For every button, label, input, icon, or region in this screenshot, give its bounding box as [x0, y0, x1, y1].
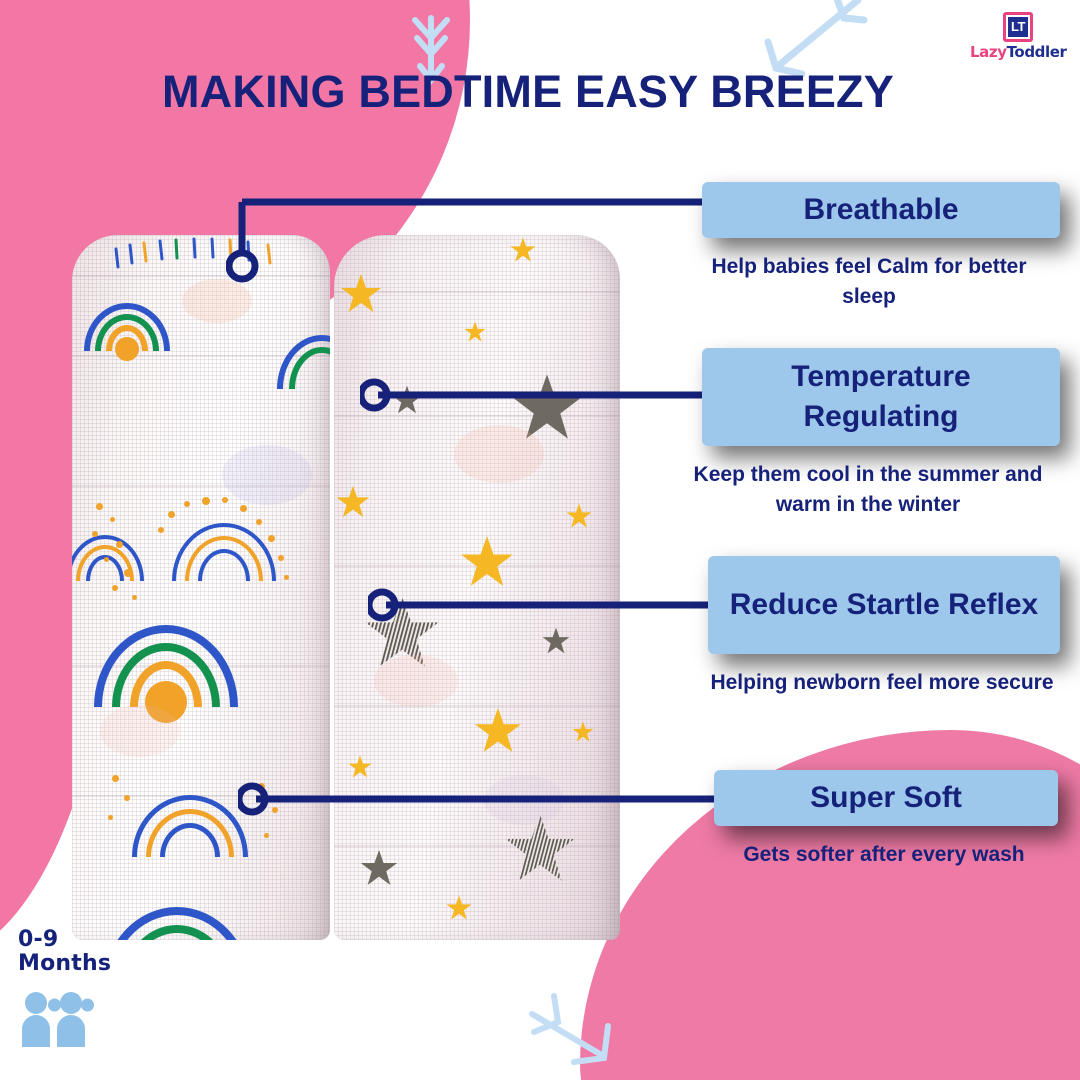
rainbow-motif [84, 303, 170, 351]
feature-title: Super Soft [810, 778, 962, 818]
age-badge-line2: Months [18, 952, 111, 977]
age-badge-text: 0-9 Months [18, 928, 111, 977]
feature-reduce-startle-reflex: Reduce Startle Reflex Helping newborn fe… [708, 556, 1060, 698]
lt-monogram-icon: LT [1003, 12, 1033, 42]
feature-subtitle: Help babies feel Calm for better sleep [682, 252, 1056, 312]
brand-name-part1: Lazy [970, 43, 1007, 61]
rainbow-motif [94, 625, 238, 707]
feature-subtitle: Keep them cool in the summer and warm in… [680, 460, 1056, 520]
feature-subtitle: Helping newborn feel more secure [704, 668, 1060, 698]
swaddle-roll-stars [334, 235, 620, 940]
brand-logo[interactable]: LT LazyToddler [970, 12, 1066, 61]
feature-breathable: Breathable Help babies feel Calm for bet… [702, 182, 1060, 312]
rainbow-motif [102, 907, 252, 940]
rainbow-motif [132, 795, 248, 857]
swaddle-roll-rainbow [72, 235, 330, 940]
two-children-icon [18, 989, 111, 1052]
rainbow-motif [277, 335, 330, 389]
feature-title-box[interactable]: Super Soft [714, 770, 1058, 826]
feature-subtitle: Gets softer after every wash [708, 840, 1060, 870]
feature-title: Temperature Regulating [710, 357, 1052, 436]
feature-title-box[interactable]: Breathable [702, 182, 1060, 238]
age-badge-line1: 0-9 [18, 928, 111, 953]
product-image [72, 235, 620, 940]
arrow-down-right-icon [516, 988, 620, 1074]
feature-temperature-regulating: Temperature Regulating Keep them cool in… [702, 348, 1060, 520]
feature-title-box[interactable]: Reduce Startle Reflex [708, 556, 1060, 654]
feature-title-box[interactable]: Temperature Regulating [702, 348, 1060, 446]
brand-name-part2: Toddler [1007, 43, 1067, 61]
star-print-pattern [334, 235, 620, 940]
brand-wordmark: LazyToddler [970, 43, 1066, 61]
logo-monogram-text: LT [1008, 17, 1028, 37]
rainbow-motif [172, 523, 276, 581]
feature-title: Breathable [803, 190, 958, 230]
feature-super-soft: Super Soft Gets softer after every wash [714, 770, 1058, 870]
feature-title: Reduce Startle Reflex [730, 585, 1038, 625]
infographic-canvas: LT LazyToddler MAKING BEDTIME EASY BREEZ… [0, 0, 1080, 1080]
page-title: MAKING BEDTIME EASY BREEZY [162, 66, 952, 118]
age-badge: 0-9 Months [18, 928, 111, 1052]
